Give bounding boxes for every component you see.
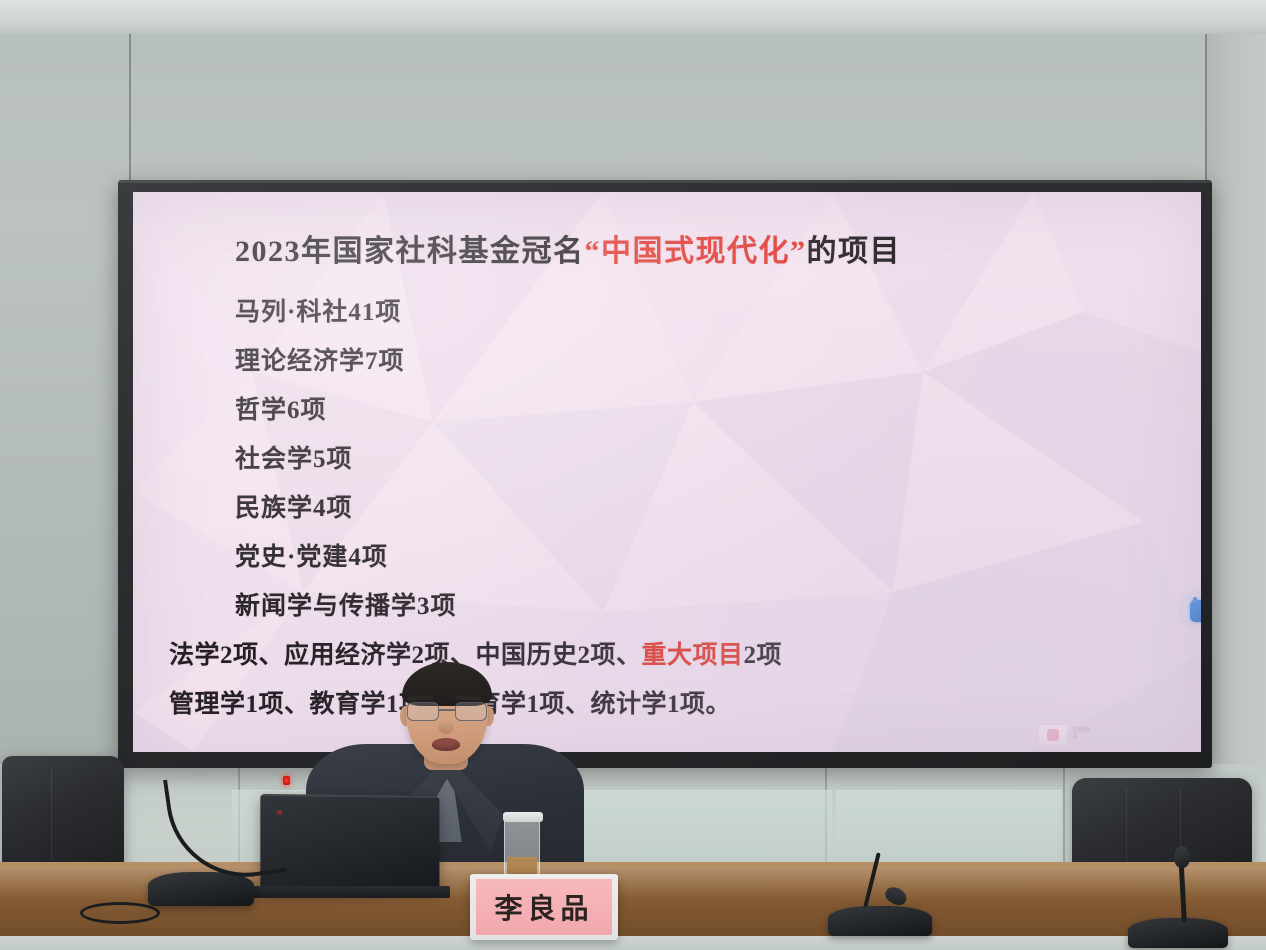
microphone-right-base[interactable] (1128, 918, 1228, 948)
list-item: 社会学5项 (235, 447, 1161, 472)
watermark-dot-icon (1047, 729, 1059, 741)
speaker-mouth (432, 738, 460, 751)
list-item: 理论经济学7项 (235, 349, 1161, 374)
eyeglass-lens-right (455, 702, 487, 721)
tea-glass-lid (503, 812, 543, 822)
list-item: 民族学4项 (235, 496, 1161, 521)
microphone-center-right-base[interactable] (828, 906, 932, 936)
nameplate: 李良品 (470, 874, 618, 940)
speaker-nose (438, 720, 454, 734)
chair-right-seam-1 (1126, 788, 1127, 863)
presentation-photo-scene: 2023年国家社科基金冠名“中国式现代化”的项目 马列·科社41项 理论经济学7… (0, 0, 1266, 950)
slide-bullet-list: 马列·科社41项 理论经济学7项 哲学6项 社会学5项 民族学4项 党史·党建4… (235, 300, 1161, 619)
nameplate-card: 李良品 (476, 879, 612, 935)
desk-front-edge (0, 936, 1266, 950)
laptop-base (250, 886, 450, 898)
wide-line-1-seg-3: 2项 (744, 642, 783, 669)
chair-right (1072, 778, 1252, 874)
watermark-text: 短视频 号 (1072, 728, 1090, 742)
microphone-left-cable-ring (80, 902, 160, 924)
watermark-badge-icon (1038, 724, 1068, 746)
eyeglass-lens-left (407, 702, 439, 721)
chair-left (2, 756, 124, 874)
wide-line-1-seg-red: 重大项目 (642, 642, 744, 669)
microphone-left-led-icon (283, 776, 290, 785)
eyeglass-bridge (439, 709, 455, 711)
slide-title-before: 2023年国家社科基金冠名 (235, 235, 585, 268)
slide-title-quoted-red: “中国式现代化” (585, 235, 807, 268)
blue-rounded-square-icon (1190, 600, 1202, 622)
watermark-line-1: 短视频 (1072, 728, 1090, 735)
bezel-highlight (118, 180, 1212, 183)
list-item: 哲学6项 (235, 398, 1161, 423)
list-item: 新闻学与传播学3项 (235, 594, 1161, 619)
glass-panel-right (836, 790, 1062, 868)
microphone-right-capsule (1174, 846, 1190, 868)
ceiling (0, 0, 1266, 38)
slide-title: 2023年国家社科基金冠名“中国式现代化”的项目 (235, 226, 1161, 270)
wall-right-panel (1205, 34, 1266, 774)
list-item: 党史·党建4项 (235, 545, 1161, 570)
slide-title-after: 的项目 (807, 235, 902, 268)
chair-left-seam (51, 768, 52, 860)
watermark-line-2: 号 (1072, 735, 1090, 742)
microphone-left-base[interactable] (148, 872, 254, 906)
wall-seam-left (129, 34, 131, 186)
slide-content: 2023年国家社科基金冠名“中国式现代化”的项目 马列·科社41项 理论经济学7… (133, 192, 1201, 752)
presentation-screen: 2023年国家社科基金冠名“中国式现代化”的项目 马列·科社41项 理论经济学7… (133, 192, 1201, 752)
laptop[interactable] (260, 794, 439, 892)
slide-watermark: 短视频 号 (1038, 720, 1098, 750)
eyeglasses-icon (404, 702, 490, 722)
nameplate-text: 李良品 (494, 887, 593, 927)
wall-lower-seam-3 (1063, 764, 1065, 874)
list-item: 马列·科社41项 (235, 300, 1161, 325)
